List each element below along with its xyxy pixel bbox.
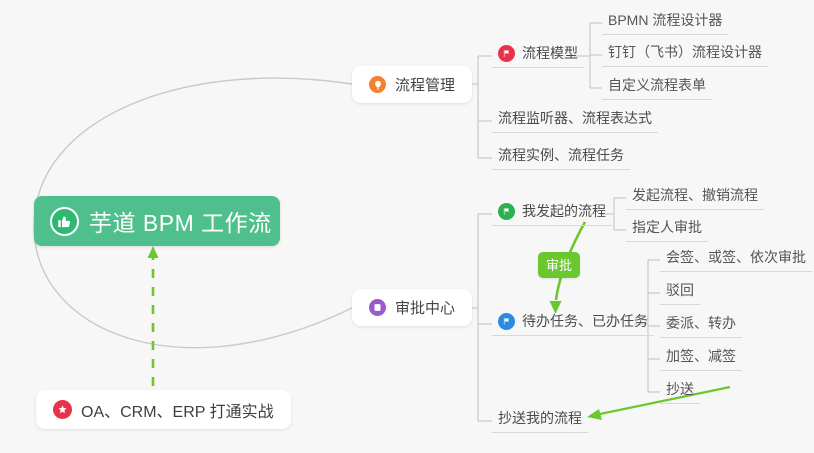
flag-icon <box>498 203 515 220</box>
callout-arrow <box>148 246 159 386</box>
node-add-remove-sign[interactable]: 加签、减签 <box>660 346 742 371</box>
lightbulb-icon <box>369 76 386 93</box>
thumbs-up-icon <box>50 207 79 236</box>
node-delegate-transfer[interactable]: 委派、转办 <box>660 313 742 338</box>
node-assignee-approval[interactable]: 指定人审批 <box>626 217 708 242</box>
node-label: 流程模型 <box>522 43 578 63</box>
node-process-model[interactable]: 流程模型 <box>492 43 584 68</box>
node-multi-sign[interactable]: 会签、或签、依次审批 <box>660 247 812 272</box>
node-label: 委派、转办 <box>666 313 736 333</box>
node-bpmn-designer[interactable]: BPMN 流程设计器 <box>602 10 728 35</box>
node-label: 加签、减签 <box>666 346 736 366</box>
node-label: 指定人审批 <box>632 217 702 237</box>
node-label: 流程监听器、流程表达式 <box>498 108 652 128</box>
branch-approval-center[interactable]: 审批中心 <box>352 289 472 326</box>
node-label: 钉钉（飞书）流程设计器 <box>608 42 762 62</box>
node-label: 抄送我的流程 <box>498 408 582 428</box>
star-icon <box>53 400 72 419</box>
node-dingtalk-feishu-designer[interactable]: 钉钉（飞书）流程设计器 <box>602 42 768 67</box>
flag-icon <box>498 313 515 330</box>
root-node[interactable]: 芋道 BPM 工作流 <box>34 196 280 246</box>
mindmap-canvas: 芋道 BPM 工作流 流程管理 流程模型 BPMN 流程设计器 钉钉（飞书）流程… <box>0 0 814 453</box>
node-label: BPMN 流程设计器 <box>608 10 722 30</box>
approval-marker: 审批 <box>538 252 580 278</box>
node-listener-expression[interactable]: 流程监听器、流程表达式 <box>492 108 658 133</box>
node-todo-done[interactable]: 待办任务、已办任务 <box>492 311 654 336</box>
node-start-cancel[interactable]: 发起流程、撤销流程 <box>626 185 764 210</box>
node-cc[interactable]: 抄送 <box>660 379 700 404</box>
flag-icon <box>498 45 515 62</box>
callout-label: OA、CRM、ERP 打通实战 <box>81 398 274 422</box>
clipboard-icon <box>369 299 386 316</box>
node-custom-process-form[interactable]: 自定义流程表单 <box>602 75 712 100</box>
node-cc-to-me[interactable]: 抄送我的流程 <box>492 408 588 433</box>
node-label: 待办任务、已办任务 <box>522 311 648 331</box>
node-label: 我发起的流程 <box>522 201 606 221</box>
node-label: 流程实例、流程任务 <box>498 145 624 165</box>
node-label: 发起流程、撤销流程 <box>632 185 758 205</box>
node-reject[interactable]: 驳回 <box>660 280 700 305</box>
branch-label: 流程管理 <box>395 74 455 95</box>
approval-marker-label: 审批 <box>546 258 572 273</box>
node-label: 自定义流程表单 <box>608 75 706 95</box>
branch-process-management[interactable]: 流程管理 <box>352 66 472 103</box>
root-label: 芋道 BPM 工作流 <box>89 204 272 238</box>
node-label: 会签、或签、依次审批 <box>666 247 806 267</box>
callout-oa-crm-erp[interactable]: OA、CRM、ERP 打通实战 <box>36 390 291 429</box>
node-label: 驳回 <box>666 280 694 300</box>
node-label: 抄送 <box>666 379 694 399</box>
branch-label: 审批中心 <box>395 297 455 318</box>
node-instance-task[interactable]: 流程实例、流程任务 <box>492 145 630 170</box>
node-my-initiated[interactable]: 我发起的流程 <box>492 201 612 226</box>
cc-flow-arrow <box>587 387 730 420</box>
